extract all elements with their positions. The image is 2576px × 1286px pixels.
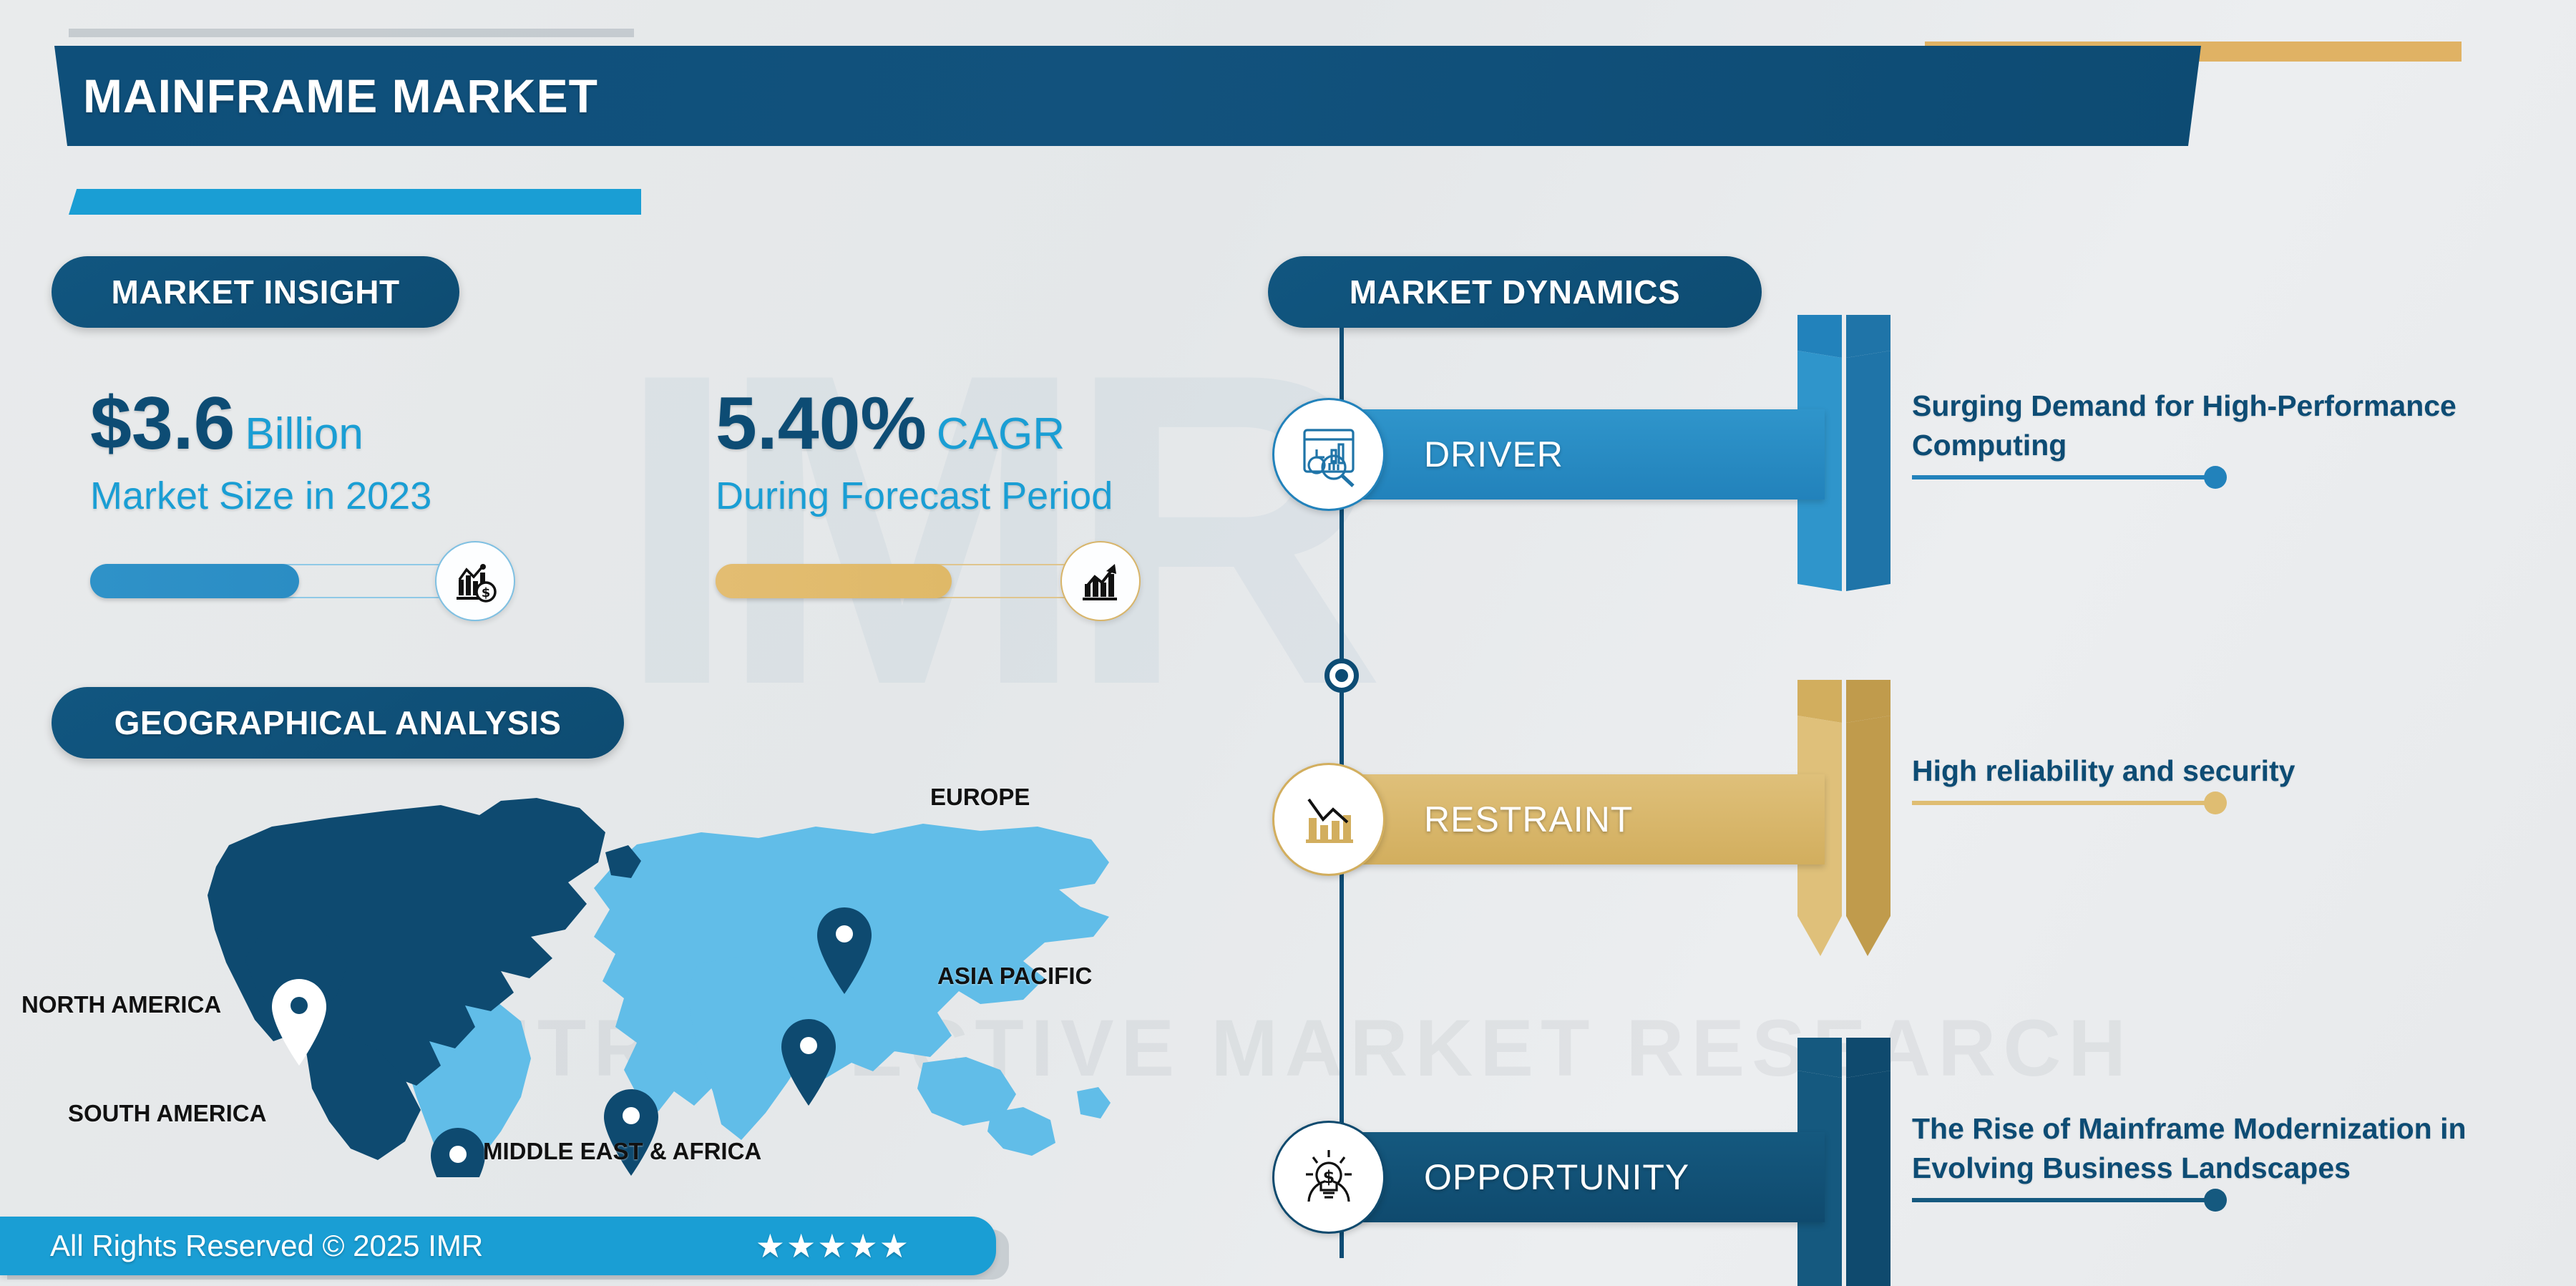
progress-bar-market-size: $ [90, 558, 491, 604]
stat-value: $3.6 [90, 382, 235, 465]
dynamics-label-restraint: RESTRAINT [1424, 799, 1633, 840]
dynamics-item-opportunity: $ OPPORTUNITY The Rise of Mainframe Mode… [1268, 1059, 2556, 1286]
section-pill-geographical-analysis: GEOGRAPHICAL ANALYSIS [52, 687, 624, 759]
map-label-europe: EUROPE [930, 784, 1030, 811]
market-insight-label: MARKET INSIGHT [111, 273, 399, 311]
stat-caption: Market Size in 2023 [90, 474, 491, 518]
stat-market-size: $3.6Billion Market Size in 2023 $ [90, 386, 491, 604]
map-label-north-america: NORTH AMERICA [21, 991, 221, 1018]
market-dynamics-label: MARKET DYNAMICS [1350, 273, 1680, 311]
tag-rule-line [1912, 1198, 2212, 1202]
infographic-canvas: IMR INTROSPECTIVE MARKET RESEARCH MAINFR… [0, 0, 2576, 1286]
map-label-south-america: SOUTH AMERICA [68, 1100, 266, 1127]
dynamics-text-opportunity: The Rise of Mainframe Modernization in E… [1912, 1109, 2506, 1188]
dynamics-ribbon-driver: DRIVER [1288, 409, 1825, 500]
stat-value: 5.40% [716, 382, 927, 465]
footer-copyright: All Rights Reserved © 2025 IMR [50, 1229, 483, 1263]
dynamics-tag-opportunity: The Rise of Mainframe Modernization in E… [1912, 1109, 2506, 1202]
map-label-middle-east-africa: MIDDLE EAST & AFRICA [483, 1138, 761, 1165]
tag-rule-line [1912, 801, 2212, 805]
dynamics-label-driver: DRIVER [1424, 434, 1563, 475]
stat-headline: 5.40%CAGR [716, 386, 1116, 461]
stat-unit: CAGR [937, 409, 1065, 459]
section-pill-market-insight: MARKET INSIGHT [52, 256, 459, 328]
market-dynamics-timeline: DRIVER Surging Demand for High-Performan… [1268, 315, 2556, 1286]
bar-chart-dollar-icon: $ [435, 541, 515, 621]
stat-caption: During Forecast Period [716, 474, 1116, 518]
header-bar: MAINFRAME MARKET [54, 46, 2201, 146]
progress-fill [716, 564, 952, 598]
header-shadow-strip [69, 29, 634, 37]
dynamics-ribbon-restraint: RESTRAINT [1288, 774, 1825, 864]
stat-headline: $3.6Billion [90, 386, 491, 461]
dynamics-text-driver: Surging Demand for High-Performance Comp… [1912, 386, 2506, 465]
dynamics-item-restraint: RESTRAINT High reliability and security [1268, 701, 2556, 937]
world-map: NORTH AMERICA SOUTH AMERICA EUROPE ASIA … [93, 776, 1131, 1177]
dynamics-tag-driver: Surging Demand for High-Performance Comp… [1912, 386, 2506, 479]
tag-rule-dot [2204, 1189, 2227, 1212]
growth-arrow-chart-icon [1060, 541, 1141, 621]
tag-rule-dot [2204, 791, 2227, 814]
progress-fill [90, 564, 299, 598]
dynamics-ribbon-opportunity: $ OPPORTUNITY [1288, 1132, 1825, 1222]
dynamics-item-driver: DRIVER Surging Demand for High-Performan… [1268, 336, 2556, 573]
geographical-analysis-label: GEOGRAPHICAL ANALYSIS [114, 703, 562, 742]
tag-rule [1912, 801, 2212, 805]
footer-bar: All Rights Reserved © 2025 IMR ★★★★★ [0, 1217, 996, 1275]
map-label-asia-pacific: ASIA PACIFIC [937, 963, 1092, 990]
map-region-eastern-hemisphere [594, 824, 1111, 1156]
svg-text:$: $ [1323, 1167, 1335, 1187]
tag-rule-line [1912, 475, 2212, 479]
star-rating-icon: ★★★★★ [756, 1227, 910, 1265]
declining-bar-chart-icon [1272, 763, 1385, 876]
lightbulb-dollar-icon: $ [1272, 1121, 1385, 1234]
dynamics-text-restraint: High reliability and security [1912, 751, 2506, 791]
stat-unit: Billion [245, 409, 363, 459]
dynamics-label-opportunity: OPPORTUNITY [1424, 1156, 1689, 1198]
header-blue-accent [69, 189, 641, 215]
tag-rule [1912, 1198, 2212, 1202]
page-title: MAINFRAME MARKET [83, 69, 598, 123]
dynamics-tag-restraint: High reliability and security [1912, 751, 2506, 805]
tag-rule [1912, 475, 2212, 479]
tag-rule-dot [2204, 466, 2227, 489]
stat-cagr: 5.40%CAGR During Forecast Period [716, 386, 1116, 604]
chart-analysis-search-icon [1272, 398, 1385, 511]
progress-bar-cagr [716, 558, 1116, 604]
svg-text:$: $ [482, 585, 491, 600]
map-pin-asia-pacific [781, 1019, 836, 1106]
timeline-node [1324, 658, 1359, 693]
